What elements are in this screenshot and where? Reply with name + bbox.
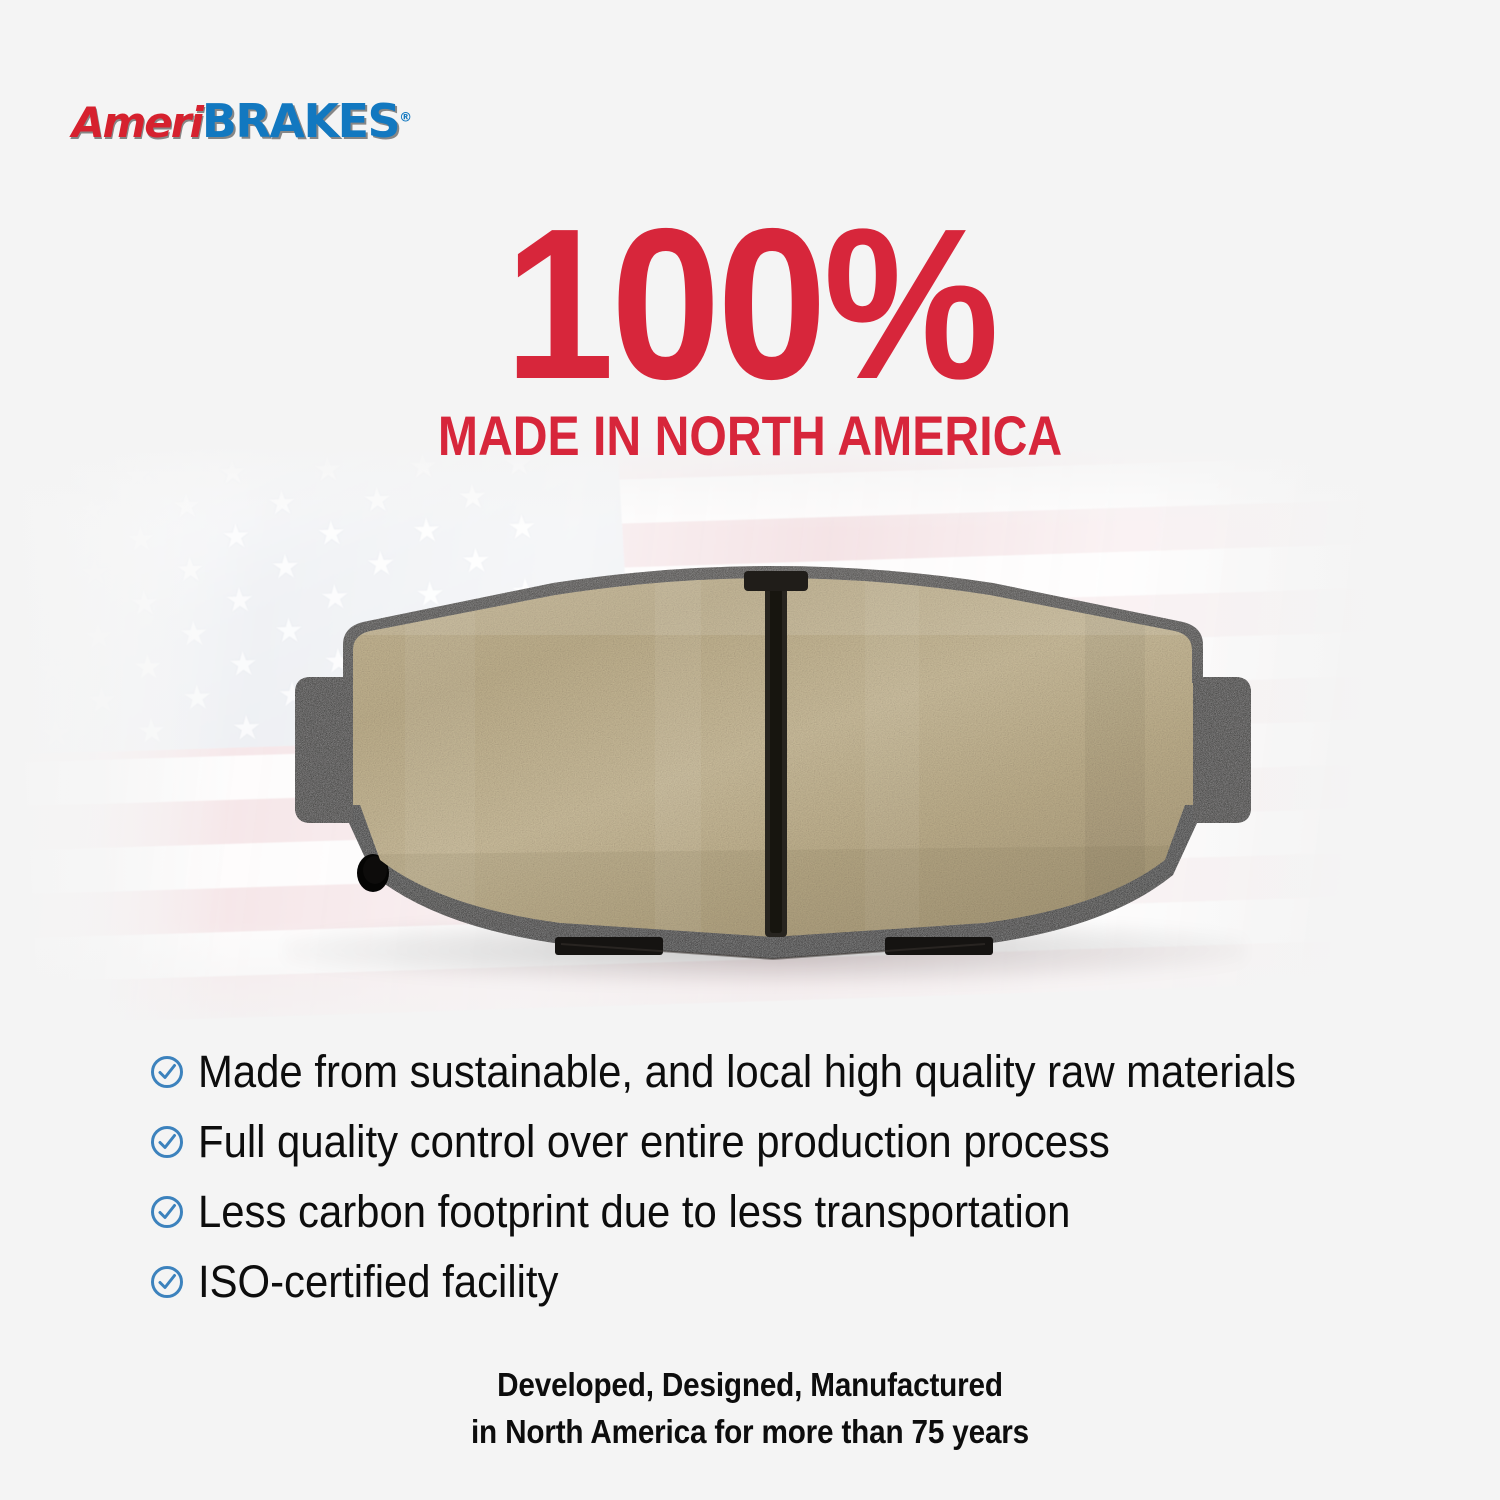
flag-star-icon: ★ <box>170 489 202 524</box>
flag-star-icon: ★ <box>315 516 347 551</box>
flag-star-icon: ★ <box>26 461 58 496</box>
list-item-label: Full quality control over entire product… <box>198 1119 1110 1164</box>
list-item-label: Less carbon footprint due to less transp… <box>198 1189 1070 1234</box>
check-circle-icon <box>150 1055 184 1089</box>
list-item: Less carbon footprint due to less transp… <box>150 1176 1400 1246</box>
flag-star-icon: ★ <box>29 525 61 560</box>
flag-star-icon: ★ <box>361 483 393 518</box>
check-circle-icon <box>150 1265 184 1299</box>
flag-star-icon: ★ <box>40 717 72 752</box>
page-title: 100% <box>60 196 1440 411</box>
flag-star-icon: ★ <box>128 586 160 621</box>
brake-pad-illustration <box>225 555 1320 1015</box>
list-item-label: Made from sustainable, and local high qu… <box>198 1049 1296 1094</box>
check-circle-icon <box>150 1195 184 1229</box>
flag-star-icon: ★ <box>79 556 111 591</box>
flag-star-icon: ★ <box>135 714 167 749</box>
page-subtitle: MADE IN NORTH AMERICA <box>105 408 1395 464</box>
footer-text: Developed, Designed, Manufactured in Nor… <box>0 1362 1500 1456</box>
flag-star-icon: ★ <box>86 683 118 718</box>
flag-star-icon: ★ <box>174 553 206 588</box>
flag-star-icon: ★ <box>506 510 538 545</box>
check-circle-icon <box>150 1125 184 1159</box>
brake-pad-image <box>225 555 1320 1015</box>
list-item: Full quality control over entire product… <box>150 1106 1400 1176</box>
list-item: ISO-certified facility <box>150 1246 1400 1316</box>
flag-star-icon: ★ <box>456 480 488 515</box>
footer-line-2: in North America for more than 75 years <box>75 1409 1425 1456</box>
list-item: Made from sustainable, and local high qu… <box>150 1036 1400 1106</box>
flag-star-icon: ★ <box>266 486 298 521</box>
flag-star-icon: ★ <box>181 680 213 715</box>
list-item-label: ISO-certified facility <box>198 1259 558 1304</box>
flag-star-icon: ★ <box>132 650 164 685</box>
flag-star-icon: ★ <box>178 617 210 652</box>
flag-star-icon: ★ <box>125 522 157 557</box>
flag-star-icon: ★ <box>75 492 107 527</box>
feature-list: Made from sustainable, and local high qu… <box>150 1036 1400 1316</box>
flag-star-icon: ★ <box>82 620 114 655</box>
footer-line-1: Developed, Designed, Manufactured <box>75 1362 1425 1409</box>
logo-text-ameri: Ameri <box>72 98 202 147</box>
flag-star-icon: ★ <box>220 519 252 554</box>
flag-fade-left <box>0 440 230 1060</box>
promo-banner: ★★★★★★★★★★★★★★★★★★★★★★★★★★★★★★★★★★★★★★★★… <box>0 0 1500 1500</box>
brand-logo[interactable]: AmeriBRAKES® <box>72 98 411 145</box>
flag-star-icon: ★ <box>410 513 442 548</box>
registered-trademark-icon: ® <box>399 110 411 125</box>
logo-text-brakes: BRAKES <box>202 94 399 148</box>
flag-star-icon: ★ <box>33 589 65 624</box>
flag-star-icon: ★ <box>36 653 68 688</box>
